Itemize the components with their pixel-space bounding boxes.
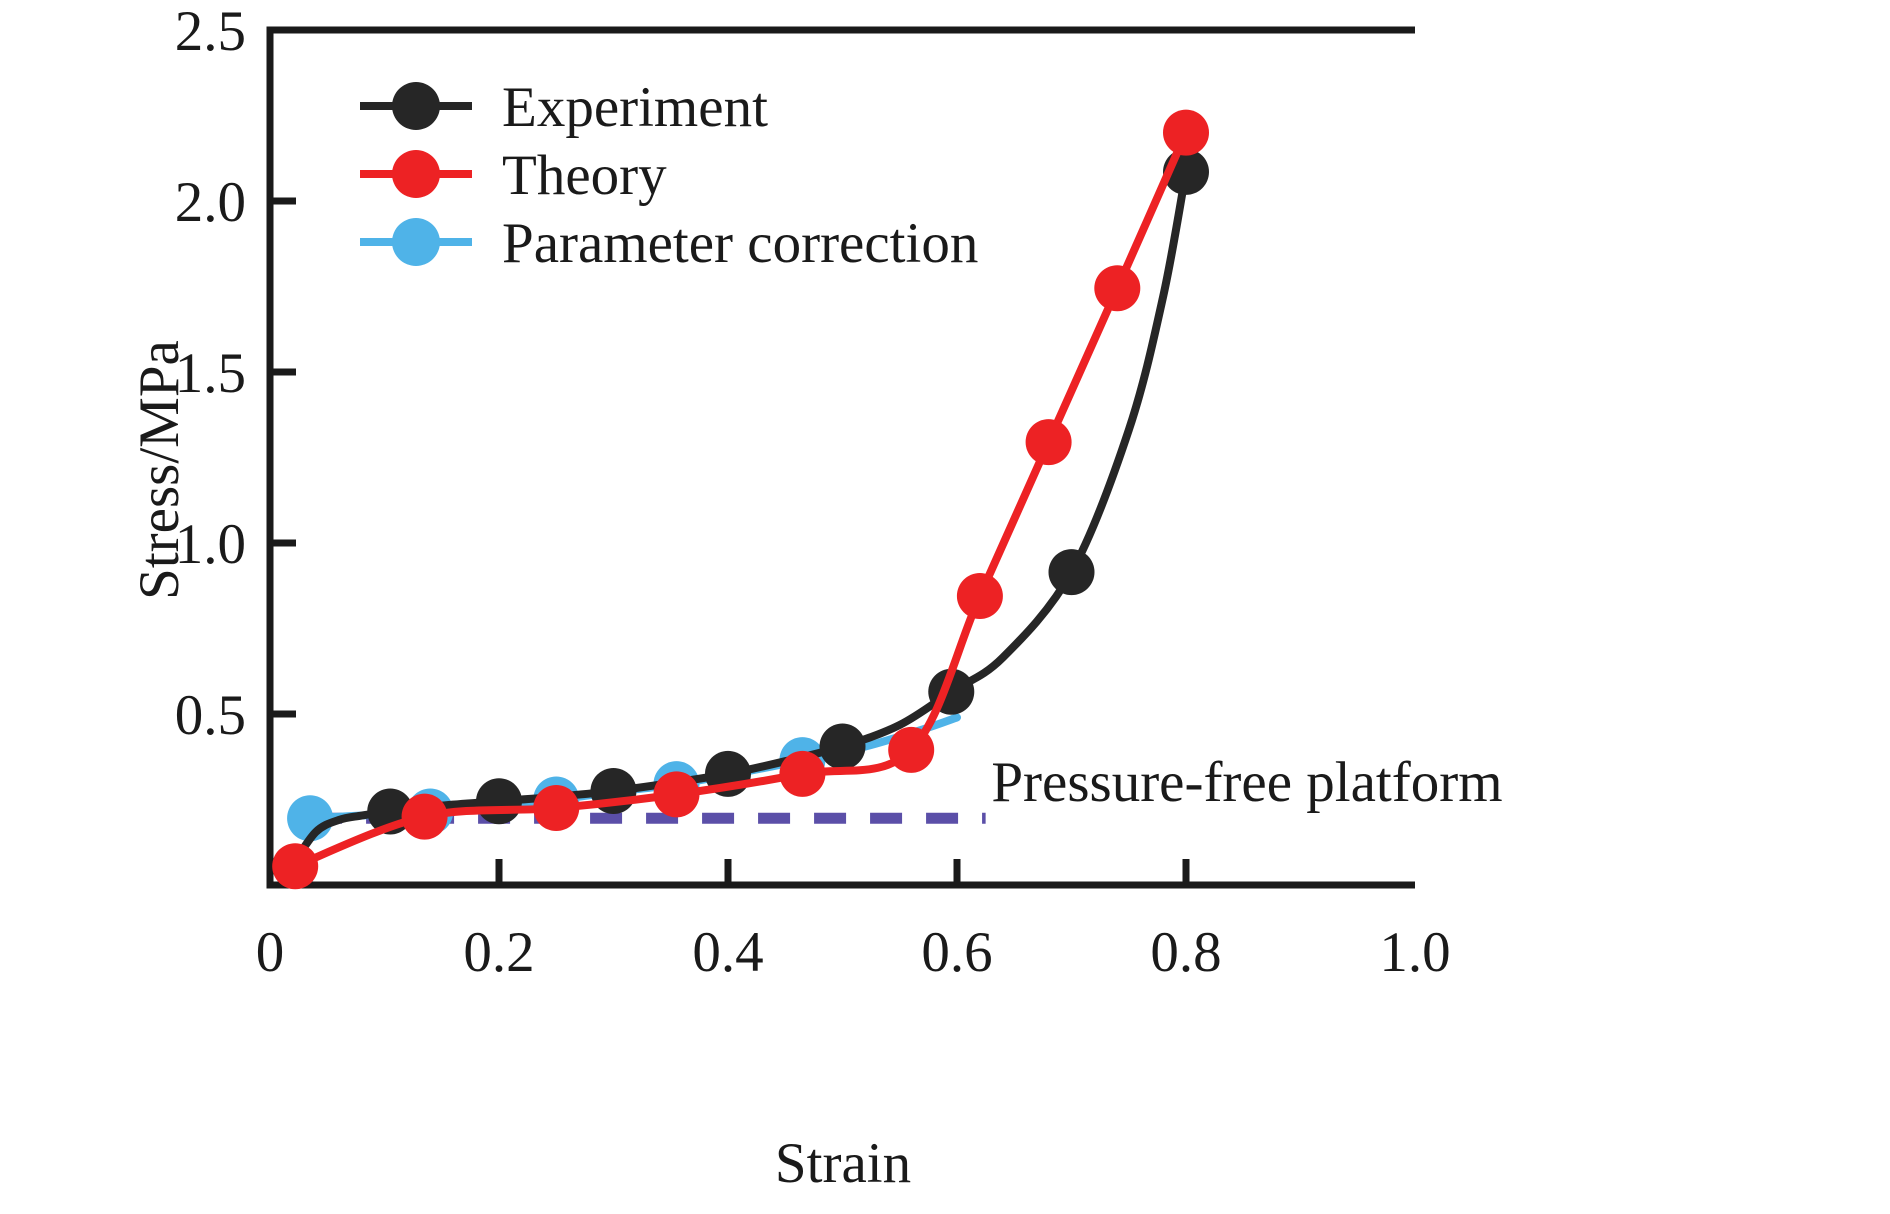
- data-point: [653, 771, 699, 817]
- data-point: [957, 573, 1003, 619]
- data-point: [1094, 265, 1140, 311]
- x-tick-label: 1.0: [1379, 921, 1450, 984]
- legend-swatch-marker: [392, 82, 440, 130]
- data-point: [533, 785, 579, 831]
- legend-swatch-marker: [392, 150, 440, 198]
- x-tick-label: 0.8: [1150, 921, 1221, 984]
- data-point: [476, 778, 522, 824]
- data-point: [779, 751, 825, 797]
- data-point: [820, 723, 866, 769]
- stress-strain-chart: 0.51.01.52.02.5 00.20.40.60.81.0 Pressur…: [0, 0, 1890, 1214]
- x-axis-title: Strain: [775, 1132, 911, 1195]
- chart-figure: 0.51.01.52.02.5 00.20.40.60.81.0 Pressur…: [0, 0, 1890, 1214]
- data-point: [1049, 549, 1095, 595]
- data-point: [402, 794, 448, 840]
- legend-item-label: Theory: [502, 144, 667, 207]
- x-tick-label: 0.4: [692, 921, 763, 984]
- platform-annotation-label: Pressure-free platform: [991, 751, 1502, 814]
- legend-swatch-marker: [392, 218, 440, 266]
- data-point: [888, 727, 934, 773]
- x-tick-label: 0.2: [463, 921, 534, 984]
- x-tick-label: 0: [256, 921, 285, 984]
- y-tick-label: 2.0: [175, 171, 246, 234]
- legend-item-label: Parameter correction: [502, 212, 978, 275]
- y-tick-label: 0.5: [175, 684, 246, 747]
- data-point: [1163, 110, 1209, 156]
- y-axis-title: Stress/MPa: [128, 340, 191, 600]
- data-point: [1026, 419, 1072, 465]
- chart-background: [0, 0, 1890, 1214]
- legend-item-label: Experiment: [502, 76, 768, 139]
- data-point: [272, 843, 318, 889]
- x-tick-label: 0.6: [921, 921, 992, 984]
- y-tick-label: 2.5: [175, 0, 246, 63]
